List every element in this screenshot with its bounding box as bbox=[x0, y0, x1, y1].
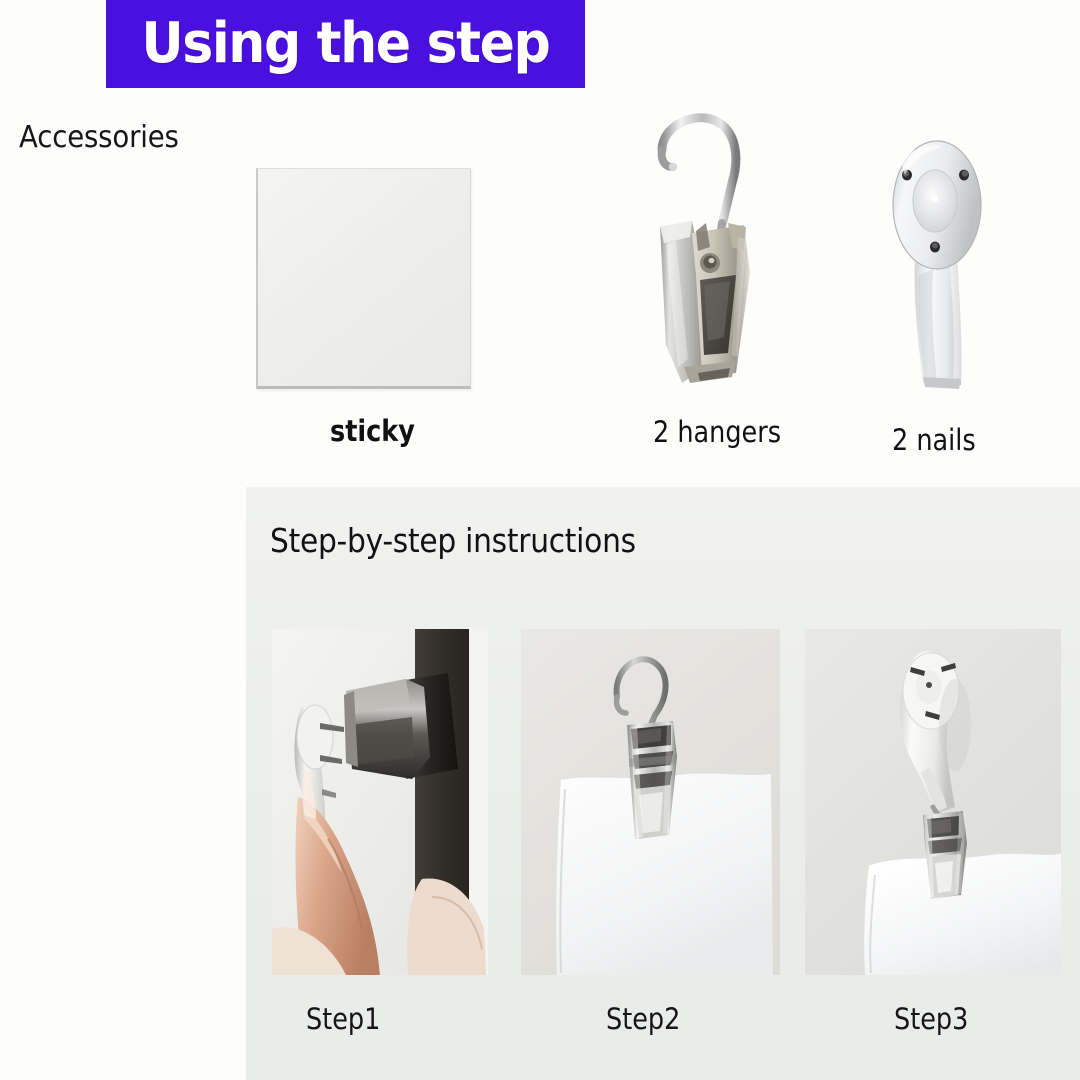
wall-hook-nail-icon bbox=[885, 135, 1000, 395]
step-3-caption: Step3 bbox=[894, 1002, 968, 1036]
step-2-photo bbox=[521, 629, 780, 975]
step-2-caption: Step2 bbox=[606, 1002, 680, 1036]
accessories-heading: Accessories bbox=[19, 120, 179, 155]
step-1-photo bbox=[272, 629, 488, 975]
title-banner: Using the step bbox=[106, 0, 585, 88]
accessory-caption-nails: 2 nails bbox=[892, 423, 976, 457]
accessory-caption-sticky: sticky bbox=[330, 414, 415, 448]
accessory-caption-hangers: 2 hangers bbox=[653, 415, 781, 449]
step-1-caption: Step1 bbox=[306, 1002, 380, 1036]
instructions-heading: Step-by-step instructions bbox=[270, 521, 636, 560]
page-title: Using the step bbox=[141, 16, 549, 72]
adhesive-pad-icon bbox=[256, 168, 471, 389]
hanger-clip-icon bbox=[640, 105, 790, 395]
step-3-photo bbox=[805, 629, 1061, 975]
